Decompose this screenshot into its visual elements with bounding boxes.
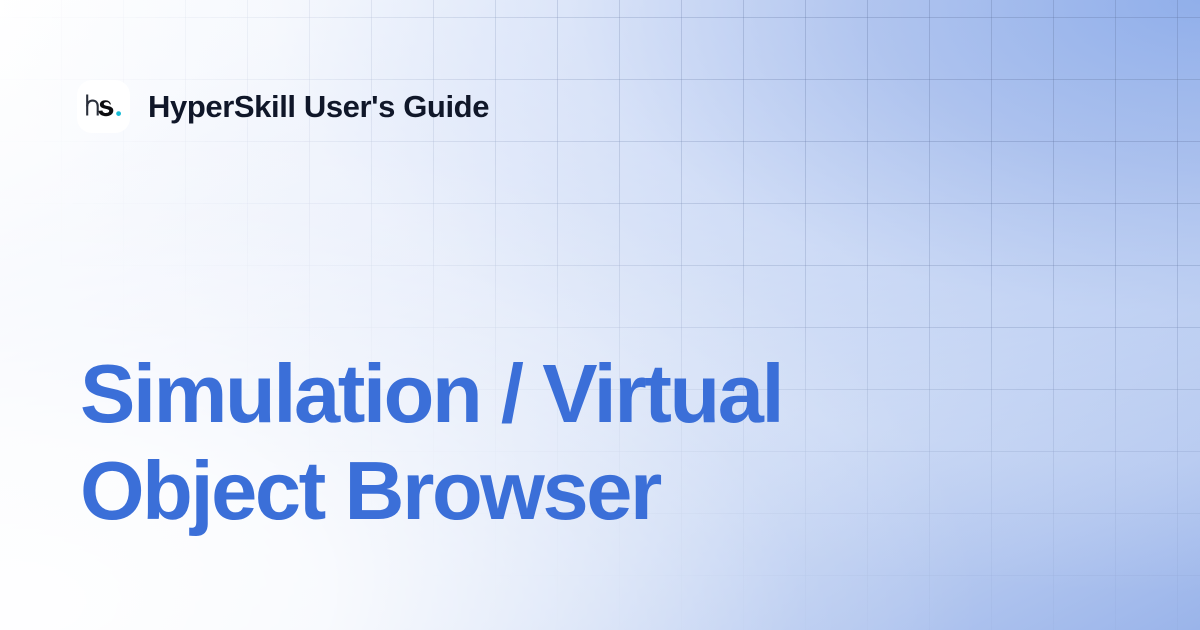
banner-content: HyperSkill User's Guide Simulation / Vir… xyxy=(0,0,1200,630)
hyperskill-logo-icon xyxy=(77,80,130,133)
logo-dot-icon xyxy=(116,111,121,116)
page-title-line-1: Simulation / Virtual xyxy=(80,352,1030,435)
page-title-line-2: Object Browser xyxy=(80,449,1030,532)
brand-title: HyperSkill User's Guide xyxy=(148,91,489,122)
og-banner-card: HyperSkill User's Guide Simulation / Vir… xyxy=(0,0,1200,630)
page-title: Simulation / Virtual Object Browser xyxy=(80,352,1030,532)
brand-row: HyperSkill User's Guide xyxy=(77,80,489,133)
